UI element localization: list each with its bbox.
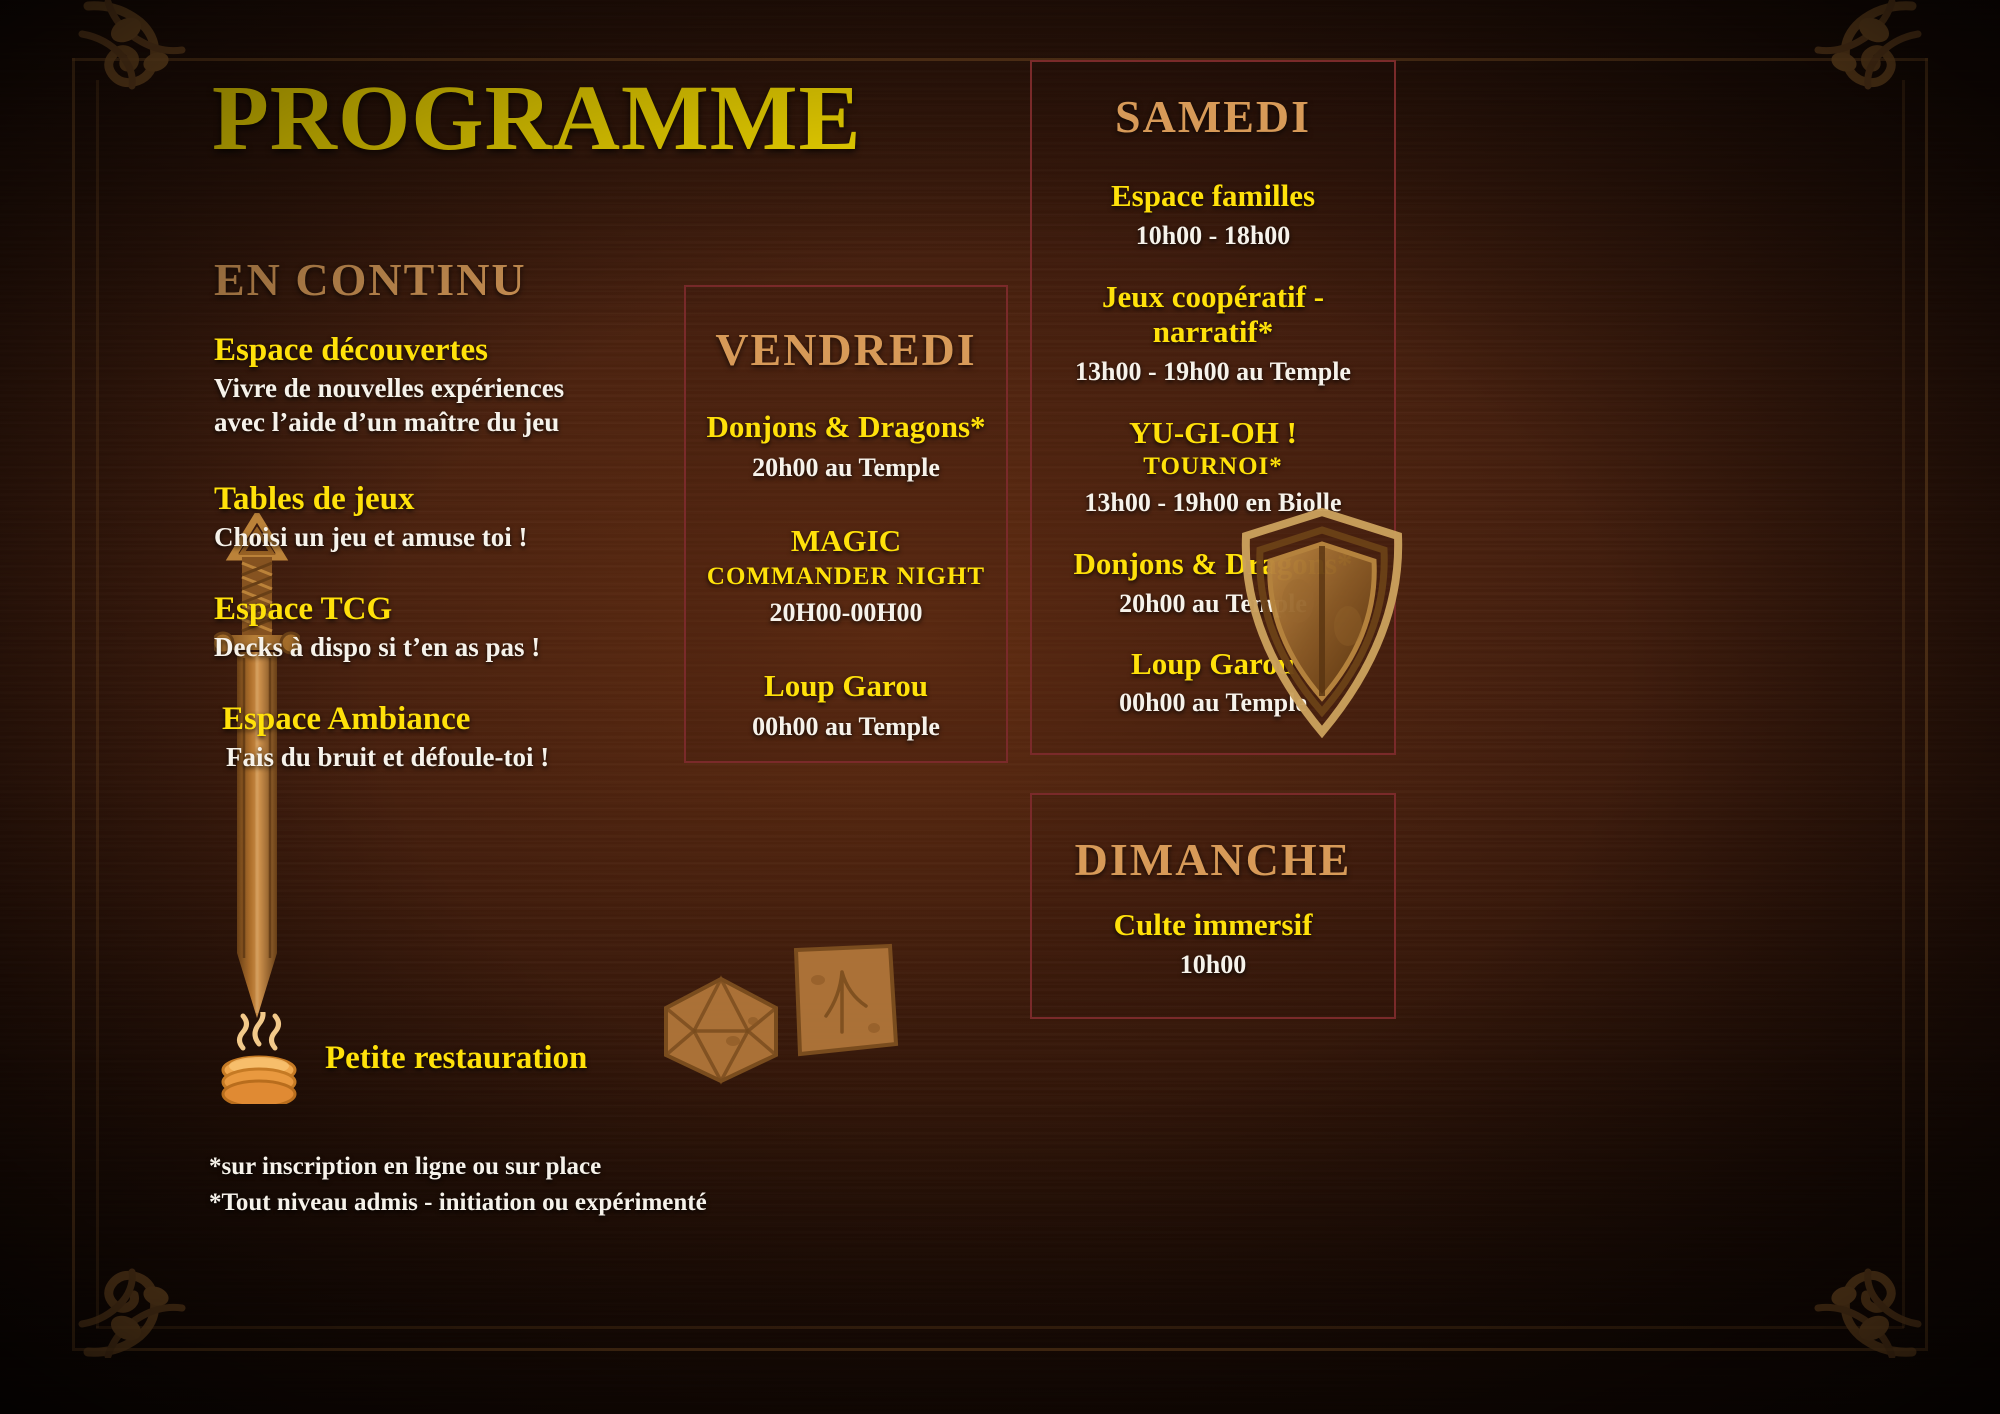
footnote-line-2: *Tout niveau admis - initiation ou expér… <box>209 1185 707 1221</box>
poster-canvas: PROGRAMME EN CONTINU Espace découvertes … <box>0 0 2000 1414</box>
d6-dice-icon <box>782 940 904 1062</box>
event-item: Donjons & Dragons* 20h00 au Temple <box>686 410 1006 484</box>
petite-restauration-row: Petite restauration <box>215 1012 587 1104</box>
frame-line-left <box>72 58 75 1348</box>
item-title: Espace découvertes <box>214 332 684 369</box>
event-title: YU-GI-OH ! <box>1032 416 1394 451</box>
event-time: 20h00 au Temple <box>686 452 1006 485</box>
page-title: PROGRAMME <box>212 72 862 165</box>
item-title: Espace TCG <box>214 591 684 628</box>
item-sub-line1: Decks à dispo si t’en as pas ! <box>214 631 684 665</box>
frame-line-bottom-inner <box>96 1326 1904 1329</box>
event-title: Loup Garou <box>686 669 1006 704</box>
list-item: Espace découvertes Vivre de nouvelles ex… <box>214 332 684 439</box>
frame-line-right-inner <box>1902 80 1905 1328</box>
event-time: 13h00 - 19h00 au Temple <box>1032 356 1394 389</box>
event-item: Jeux coopératif - narratif* 13h00 - 19h0… <box>1032 280 1394 388</box>
event-item: Culte immersif 10h00 <box>1032 908 1394 981</box>
item-title: Tables de jeux <box>214 481 684 518</box>
event-subtitle: TOURNOI* <box>1032 453 1394 481</box>
list-item: Espace TCG Decks à dispo si t’en as pas … <box>214 591 684 665</box>
en-continu-list: Espace découvertes Vivre de nouvelles ex… <box>214 332 684 802</box>
panel-dimanche: DIMANCHE Culte immersif 10h00 <box>1030 793 1396 1019</box>
event-time: 00h00 au Temple <box>686 711 1006 744</box>
event-title: MAGIC <box>686 524 1006 559</box>
petite-restauration-label: Petite restauration <box>325 1040 587 1077</box>
event-title: Jeux coopératif - narratif* <box>1032 280 1394 349</box>
event-time: 10h00 - 18h00 <box>1032 220 1394 253</box>
list-item: Espace Ambiance Fais du bruit et défoule… <box>222 701 684 775</box>
corner-ornament-icon <box>78 1208 238 1358</box>
day-heading-vendredi: VENDREDI <box>686 323 1006 376</box>
corner-ornament-icon <box>1762 1208 1922 1358</box>
event-time: 20H00-00H00 <box>686 597 1006 630</box>
section-heading-en-continu: EN CONTINU <box>214 253 527 306</box>
footnote-line-1: *sur inscription en ligne ou sur place <box>209 1149 707 1185</box>
event-subtitle: COMMANDER NIGHT <box>686 563 1006 591</box>
corner-ornament-icon <box>1762 0 1922 150</box>
pancakes-icon <box>215 1012 303 1104</box>
item-title: Espace Ambiance <box>222 701 684 738</box>
frame-line-top <box>72 58 1928 61</box>
day-heading-samedi: SAMEDI <box>1032 90 1394 143</box>
frame-line-bottom <box>72 1348 1928 1351</box>
item-sub-line1: Choisi un jeu et amuse toi ! <box>214 521 684 555</box>
event-title: Culte immersif <box>1032 908 1394 943</box>
frame-line-left-inner <box>96 80 99 1328</box>
shield-icon <box>1236 506 1408 738</box>
event-item: Loup Garou 00h00 au Temple <box>686 669 1006 743</box>
event-time: 10h00 <box>1032 949 1394 982</box>
d20-dice-icon <box>658 975 784 1085</box>
frame-line-right <box>1925 58 1928 1348</box>
event-title: Donjons & Dragons* <box>686 410 1006 445</box>
panel-vendredi: VENDREDI Donjons & Dragons* 20h00 au Tem… <box>684 285 1008 763</box>
item-sub-line1: Fais du bruit et défoule-toi ! <box>226 741 684 775</box>
event-item: MAGIC COMMANDER NIGHT 20H00-00H00 <box>686 524 1006 629</box>
item-sub-line1: Vivre de nouvelles expériences <box>214 372 684 406</box>
event-item: YU-GI-OH ! TOURNOI* 13h00 - 19h00 en Bio… <box>1032 416 1394 519</box>
list-item: Tables de jeux Choisi un jeu et amuse to… <box>214 481 684 555</box>
event-title: Espace familles <box>1032 179 1394 214</box>
day-heading-dimanche: DIMANCHE <box>1032 833 1394 886</box>
event-item: Espace familles 10h00 - 18h00 <box>1032 179 1394 252</box>
item-sub-line2: avec l’aide d’un maître du jeu <box>214 406 684 440</box>
footnotes: *sur inscription en ligne ou sur place *… <box>209 1149 707 1222</box>
